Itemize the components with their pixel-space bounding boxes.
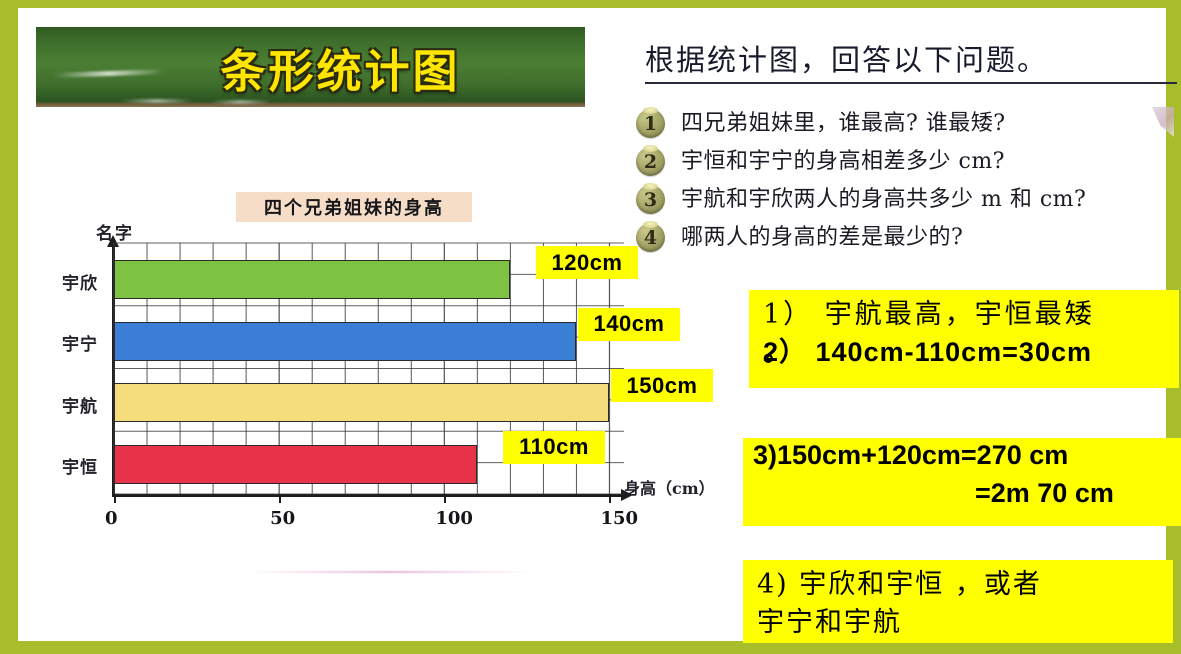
bar-4: [114, 445, 477, 484]
value-tag: 120cm: [536, 246, 638, 279]
answer-line: 4) 宇欣和宇恒 ，或者: [757, 562, 1042, 601]
category-label: 宇欣: [62, 269, 98, 294]
question-text: 宇航和宇欣两人的身高共多少 m 和 cm?: [681, 184, 1086, 216]
question-number-badge: 1: [636, 109, 665, 138]
value-tag: 140cm: [578, 308, 680, 341]
answer-line: 3)150cm+120cm=270 cm: [753, 440, 1068, 471]
questions-heading: 根据统计图，回答以下问题。: [645, 37, 1175, 79]
bar-3: [114, 383, 609, 422]
x-tick-mark: [444, 494, 446, 503]
list-item: 1 四兄弟姐妹里，谁最高? 谁最矮?: [636, 108, 1181, 142]
x-tick-label: 100: [435, 508, 473, 529]
slide-page: 条形统计图 根据统计图，回答以下问题。 1 四兄弟姐妹里，谁最高? 谁最矮? 2…: [18, 8, 1166, 641]
scan-artifact: [250, 571, 530, 573]
answer-line: 1） 宇航最高，宇恒最矮: [763, 292, 1095, 331]
x-tick-mark: [114, 494, 116, 503]
question-number-badge: 3: [636, 185, 665, 214]
answer-line: 宇宁和宇航: [757, 600, 902, 639]
answer-box-1: 1） 宇航最高，宇恒最矮 。 2） 140cm-110cm=30cm: [749, 290, 1179, 388]
page-title: 条形统计图: [36, 27, 585, 107]
bar-chart: 名字 身高（cm） 宇欣宇宁宇航宇恒 050100150 120cm140cm1…: [48, 213, 708, 548]
x-tick-label: 50: [270, 508, 295, 529]
x-tick-label: 150: [600, 508, 638, 529]
question-text: 四兄弟姐妹里，谁最高? 谁最矮?: [681, 108, 1006, 140]
bar-1: [114, 260, 510, 299]
category-label: 宇航: [62, 392, 98, 417]
value-tag: 110cm: [503, 431, 605, 464]
value-tag: 150cm: [611, 369, 713, 402]
list-item: 2 宇恒和宇宁的身高相差多少 cm?: [636, 146, 1181, 180]
bar-2: [114, 322, 576, 361]
list-item: 4 哪两人的身高的差是最少的?: [636, 222, 1181, 256]
answer-line: =2m 70 cm: [975, 478, 1114, 509]
category-label: 宇宁: [62, 330, 98, 355]
answer-box-3: 4) 宇欣和宇恒 ，或者 宇宁和宇航: [743, 560, 1173, 643]
heading-underline: [645, 82, 1177, 84]
slide-canvas: 条形统计图 根据统计图，回答以下问题。 1 四兄弟姐妹里，谁最高? 谁最矮? 2…: [0, 0, 1181, 654]
x-tick-mark: [609, 494, 611, 503]
question-number-badge: 2: [636, 147, 665, 176]
answer-box-2: 3)150cm+120cm=270 cm =2m 70 cm: [743, 438, 1181, 526]
chalkboard-banner: 条形统计图: [36, 27, 585, 107]
question-text: 哪两人的身高的差是最少的?: [681, 222, 963, 254]
x-tick-mark: [279, 494, 281, 503]
questions-list: 1 四兄弟姐妹里，谁最高? 谁最矮? 2 宇恒和宇宁的身高相差多少 cm? 3 …: [636, 108, 1181, 260]
x-tick-label: 0: [105, 508, 118, 529]
category-label: 宇恒: [62, 453, 98, 478]
question-text: 宇恒和宇宁的身高相差多少 cm?: [681, 146, 1005, 178]
list-item: 3 宇航和宇欣两人的身高共多少 m 和 cm?: [636, 184, 1181, 218]
answer-line: 2） 140cm-110cm=30cm: [763, 330, 1092, 369]
